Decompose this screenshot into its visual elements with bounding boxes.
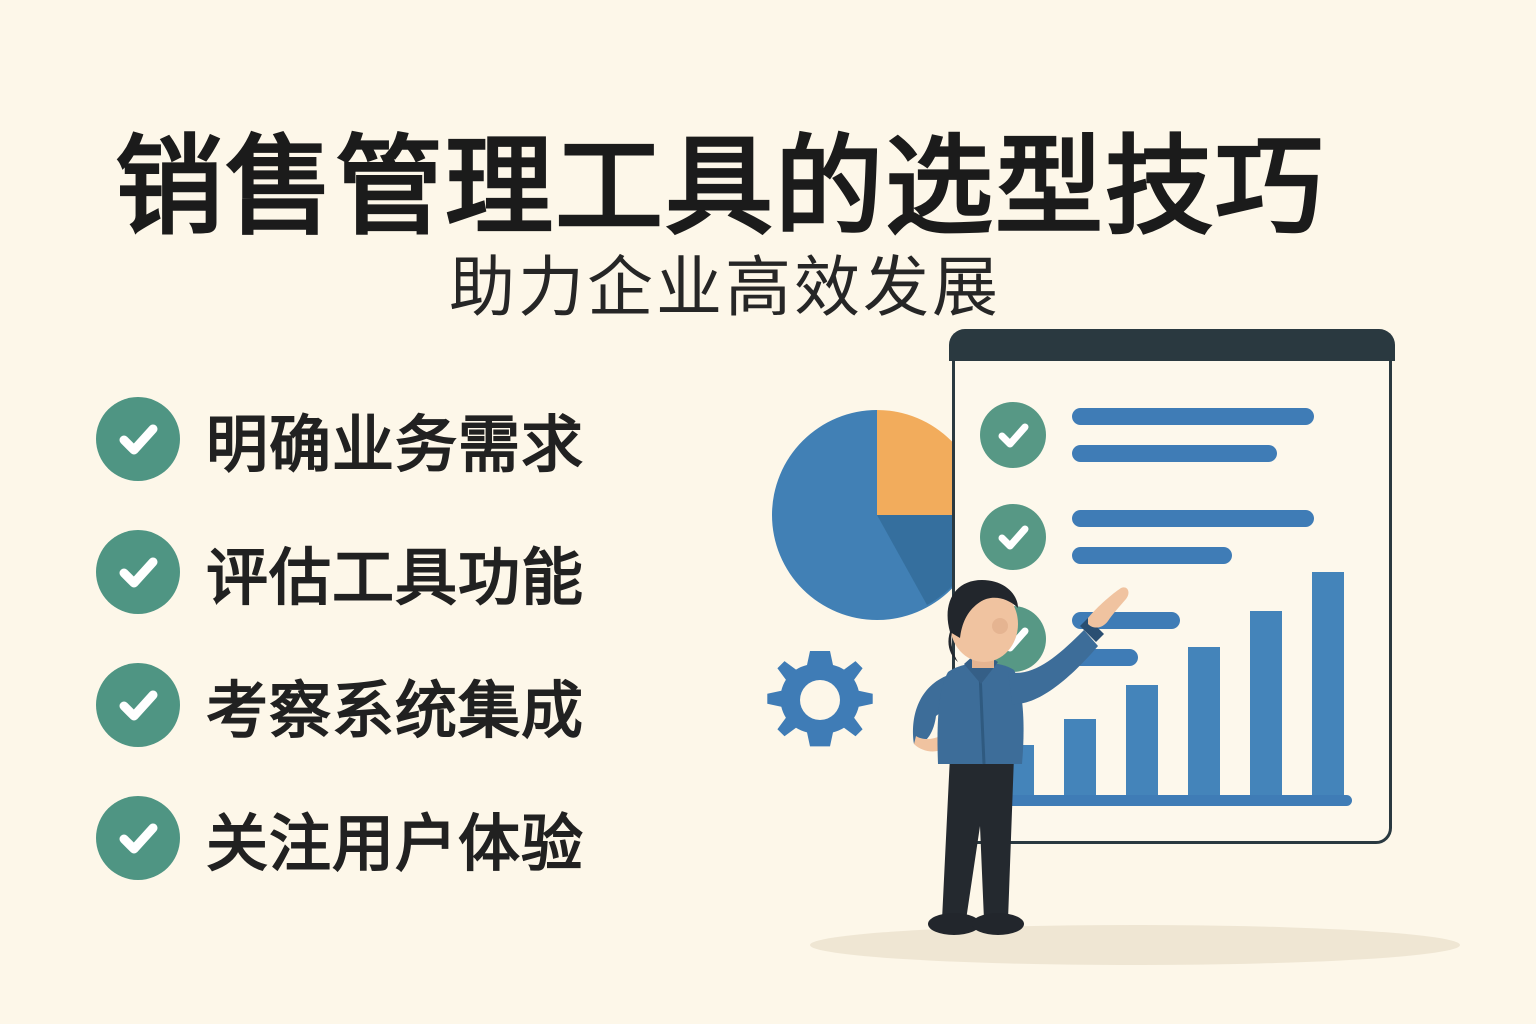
checklist-item-1[interactable]: 明确业务需求: [96, 372, 716, 505]
bar-5: [1250, 611, 1282, 797]
board-row-1: [980, 402, 1314, 468]
illustration: [740, 300, 1480, 1000]
infographic-canvas: 销售管理工具的选型技巧 助力企业高效发展 明确业务需求 评估工具功能: [0, 0, 1536, 1024]
check-circle-icon: [96, 796, 180, 880]
board-line: [1072, 408, 1314, 425]
board-line: [1072, 445, 1277, 462]
board-text-lines: [1072, 408, 1314, 462]
checklist-item-label: 明确业务需求: [206, 394, 584, 484]
presenter-figure: [888, 568, 1138, 968]
checklist-item-label: 关注用户体验: [206, 793, 584, 883]
checklist-item-4[interactable]: 关注用户体验: [96, 771, 716, 904]
checklist-item-2[interactable]: 评估工具功能: [96, 505, 716, 638]
board-top-bar: [949, 329, 1395, 361]
bar-6: [1312, 572, 1344, 797]
check-circle-icon: [980, 402, 1046, 468]
bar-4: [1188, 647, 1220, 797]
checklist-item-3[interactable]: 考察系统集成: [96, 638, 716, 771]
checklist: 明确业务需求 评估工具功能 考察系统集成: [96, 372, 716, 904]
check-circle-icon: [96, 530, 180, 614]
check-circle-icon: [96, 397, 180, 481]
gear-icon: [765, 645, 875, 755]
checklist-item-label: 考察系统集成: [206, 660, 584, 750]
board-line: [1072, 510, 1314, 527]
checklist-item-label: 评估工具功能: [206, 527, 584, 617]
page-title: 销售管理工具的选型技巧: [0, 130, 1440, 243]
check-circle-icon: [96, 663, 180, 747]
